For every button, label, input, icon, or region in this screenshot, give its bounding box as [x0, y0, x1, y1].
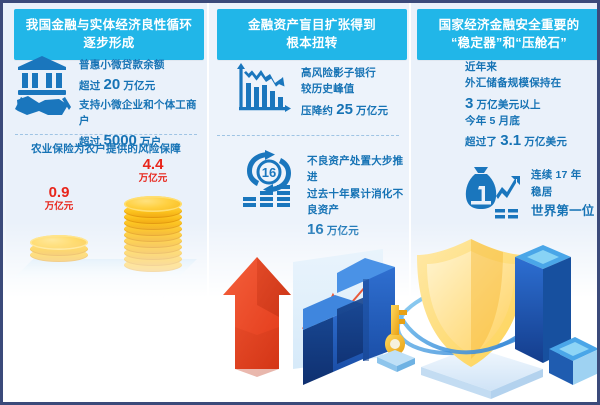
shadow-line-3-prefix: 压降约 — [301, 105, 333, 117]
panel-2-divider-1 — [217, 135, 399, 136]
forex-line-3: 3 万亿美元以上 — [465, 92, 561, 115]
panel-3-stat-may-text: 今年 5 月底 超过了 3.1 万亿美元 — [465, 113, 567, 153]
shadow-line-3-value: 25 — [336, 101, 353, 118]
forex-line-2: 外汇储备规模保持在 — [465, 75, 561, 91]
panel-3-stat-world-first-text: 连续 17 年 稳居 世界第一位 — [531, 163, 595, 221]
loan-line-2-value: 20 — [104, 76, 121, 93]
shadow-line-1: 高风险影子银行 — [301, 65, 388, 81]
forex-line-3-value: 3 — [465, 95, 473, 112]
panel-2-header-line-2: 根本扭转 — [221, 34, 403, 52]
panel-1-header: 我国金融与实体经济良性循环 逐步形成 — [14, 9, 204, 60]
coin-chart-title: 农业保险为农户提供的风险保障 — [11, 141, 201, 156]
may-line-2-suffix: 万亿美元 — [524, 136, 567, 148]
world-first-line-2: 稳居 — [531, 184, 595, 201]
shadow-line-2: 较历史峰值 — [301, 81, 388, 97]
may-line-1: 今年 5 月底 — [465, 113, 567, 129]
may-line-2: 超过了 3.1 万亿美元 — [465, 129, 567, 152]
shadow-line-3-suffix: 万亿元 — [356, 105, 388, 117]
coin-unit-2021: 万亿元 — [109, 172, 197, 186]
panel-2-header-line-1: 金融资产盲目扩张得到 — [248, 18, 376, 32]
panel-1-divider-1 — [15, 134, 197, 135]
panel-1-header-line-2: 逐步形成 — [18, 34, 200, 52]
loan-line-2: 超过 20 万亿元 — [79, 73, 205, 96]
bank-handshake-icon — [15, 55, 71, 122]
panel-3-header-line-1: 国家经济金融安全重要的 — [439, 18, 580, 32]
loan-line-2-prefix: 超过 — [79, 80, 100, 92]
declining-bar-chart-icon — [235, 61, 291, 122]
npl-line-2: 过去十年累计消化不良资产 — [307, 186, 411, 219]
world-first-line-1: 连续 17 年 — [531, 167, 595, 184]
loan-line-3: 支持小微企业和个体工商户 — [79, 97, 205, 130]
infographic-root: 我国金融与实体经济良性循环 逐步形成 普惠小微贷款余额 — [0, 0, 600, 405]
recycle-16-coins-icon: 16 — [241, 149, 299, 212]
panel-1-stat-loan-text: 普惠小微贷款余额 超过 20 万亿元 支持小微企业和个体工商户 超过 5000 … — [79, 55, 205, 152]
loan-line-1: 普惠小微贷款余额 — [79, 57, 205, 73]
isometric-growth-shield-scene — [3, 217, 600, 402]
forex-line-1: 近年来 — [465, 59, 561, 75]
gold-shield — [417, 239, 525, 367]
panel-2-stat-shadow-text: 高风险影子银行 较历史峰值 压降约 25 万亿元 — [301, 61, 388, 121]
coin-value-2021: 4.4 — [109, 157, 197, 172]
panel-3-header-line-2: “稳定器”和“压舱石” — [421, 34, 597, 52]
panel-3-stat-may-reserve: 今年 5 月底 超过了 3.1 万亿美元 — [465, 113, 599, 153]
forex-line-3-suffix: 万亿美元以上 — [476, 99, 540, 111]
panel-1-stat-loan-balance: 普惠小微贷款余额 超过 20 万亿元 支持小微企业和个体工商户 超过 5000 … — [15, 55, 205, 152]
shadow-line-3: 压降约 25 万亿元 — [301, 98, 388, 121]
npl-line-1: 不良资产处置大步推进 — [307, 153, 411, 186]
coin-value-2012: 0.9 — [15, 185, 103, 200]
may-line-2-value: 3.1 — [500, 132, 521, 149]
svg-text:16: 16 — [262, 165, 276, 180]
panel-3-stat-forex-reserve: 近年来 外汇储备规模保持在 3 万亿美元以上 — [465, 59, 599, 115]
panel-2-stat-shadow-banking: 高风险影子银行 较历史峰值 压降约 25 万亿元 — [235, 61, 407, 122]
coin-unit-2012: 万亿元 — [15, 200, 103, 214]
may-line-2-prefix: 超过了 — [465, 136, 497, 148]
panel-3-header: 国家经济金融安全重要的 “稳定器”和“压舱石” — [417, 9, 600, 60]
loan-line-2-suffix: 万亿元 — [123, 80, 155, 92]
panel-1-header-line-1: 我国金融与实体经济良性循环 — [26, 18, 192, 32]
panel-2-header: 金融资产盲目扩张得到 根本扭转 — [217, 9, 407, 60]
panel-3-stat-forex-text: 近年来 外汇储备规模保持在 3 万亿美元以上 — [465, 59, 561, 115]
